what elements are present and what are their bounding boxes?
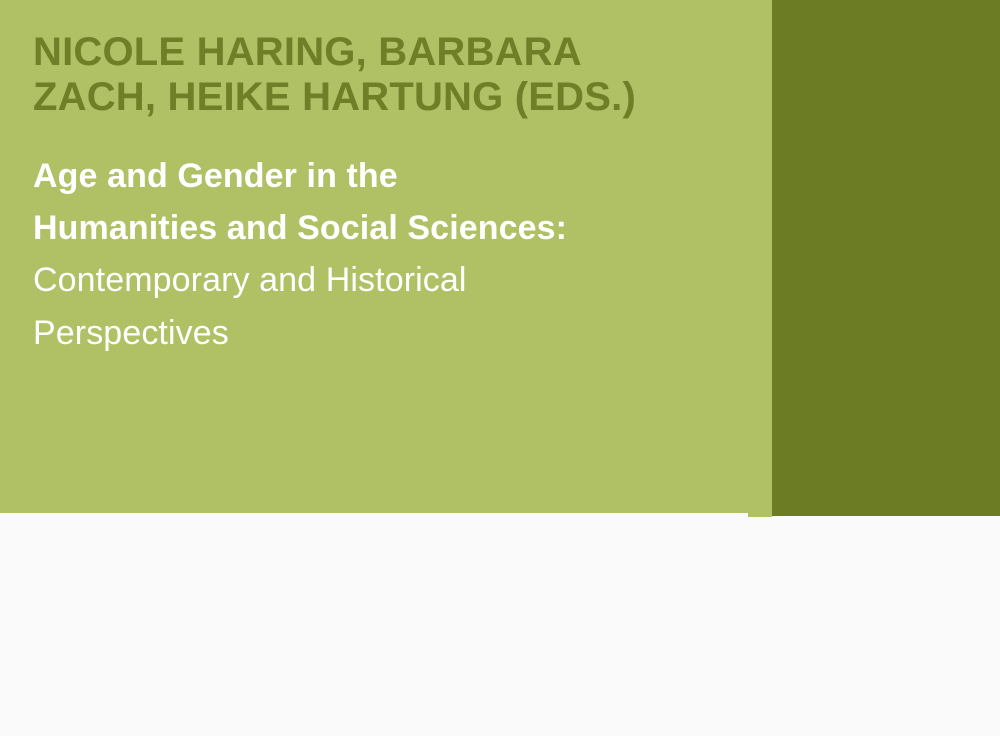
book-cover-page: NICOLE HARING, BARBARA ZACH, HEIKE HARTU…	[0, 0, 1000, 736]
book-subtitle-line-1: Contemporary and Historical	[33, 254, 749, 307]
page-lower-blank-area	[0, 517, 1000, 736]
editors-line-2: ZACH, HEIKE HARTUNG (EDS.)	[33, 75, 743, 120]
book-title: Age and Gender in the Humanities and Soc…	[33, 150, 749, 254]
accent-band-right	[772, 0, 1000, 516]
cover-text-container: NICOLE HARING, BARBARA ZACH, HEIKE HARTU…	[33, 30, 749, 360]
book-subtitle: Contemporary and Historical Perspectives	[33, 254, 749, 360]
title-block: Age and Gender in the Humanities and Soc…	[33, 150, 749, 360]
book-subtitle-line-2: Perspectives	[33, 307, 749, 360]
editors-heading: NICOLE HARING, BARBARA ZACH, HEIKE HARTU…	[33, 30, 743, 120]
cover-panel: NICOLE HARING, BARBARA ZACH, HEIKE HARTU…	[0, 0, 772, 513]
editors-line-1: NICOLE HARING, BARBARA	[33, 30, 743, 75]
book-title-line-2: Humanities and Social Sciences:	[33, 202, 749, 254]
book-title-line-1: Age and Gender in the	[33, 150, 749, 202]
